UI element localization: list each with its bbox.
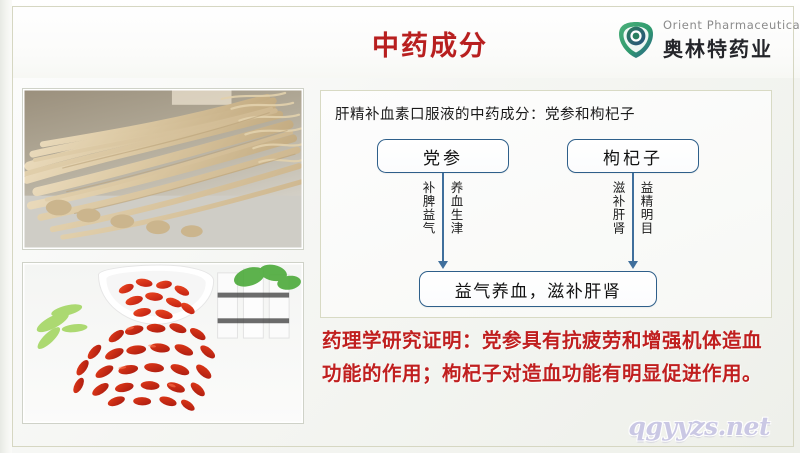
logo-english-name: Orient Pharmaceutical bbox=[663, 18, 800, 32]
conclusion-paragraph: 药理学研究证明：党参具有抗疲劳和增强机体造血功能的作用；枸杞子对造血功能有明显促… bbox=[322, 324, 772, 390]
page-title: 中药成分 bbox=[300, 24, 560, 63]
arrow-down-icon-dangshen bbox=[438, 261, 448, 269]
diagram-heading: 肝精补血素口服液的中药成分：党参和枸杞子 bbox=[335, 103, 635, 124]
effect-label-dangshen-2: 养血生津 bbox=[449, 181, 462, 235]
diagram-result-node[interactable]: 益气养血，滋补肝肾 bbox=[419, 271, 657, 307]
site-watermark: qgyyzs.net bbox=[628, 412, 770, 441]
effect-label-gouqizi-1: 滋补肝肾 bbox=[611, 181, 624, 235]
effect-label-gouqizi-2: 益精明目 bbox=[639, 181, 652, 235]
connector-line-dangshen bbox=[442, 173, 444, 261]
dang-shen-dried-roots-photo bbox=[22, 88, 304, 250]
connector-line-gouqizi bbox=[632, 173, 634, 261]
arrow-down-icon-gouqizi bbox=[628, 261, 638, 269]
slide-left-edge-band bbox=[0, 0, 12, 453]
effect-label-dangshen-1: 补脾益气 bbox=[421, 181, 434, 235]
ingredient-node-gouqizi[interactable]: 枸杞子 bbox=[567, 139, 699, 173]
orient-pharmaceutical-eye-logo-icon bbox=[616, 20, 656, 60]
ingredient-diagram-panel: 肝精补血素口服液的中药成分：党参和枸杞子 党参 枸杞子 补脾益气 养血生津 滋补… bbox=[320, 90, 772, 318]
slide-canvas: 中药成分 bbox=[0, 0, 800, 453]
gou-qi-zi-goji-berries-photo bbox=[22, 262, 304, 424]
ingredient-node-dangshen[interactable]: 党参 bbox=[377, 139, 509, 173]
brand-logo: Orient Pharmaceutical 奥林特药业 bbox=[616, 18, 800, 62]
logo-chinese-name: 奥林特药业 bbox=[663, 33, 800, 62]
